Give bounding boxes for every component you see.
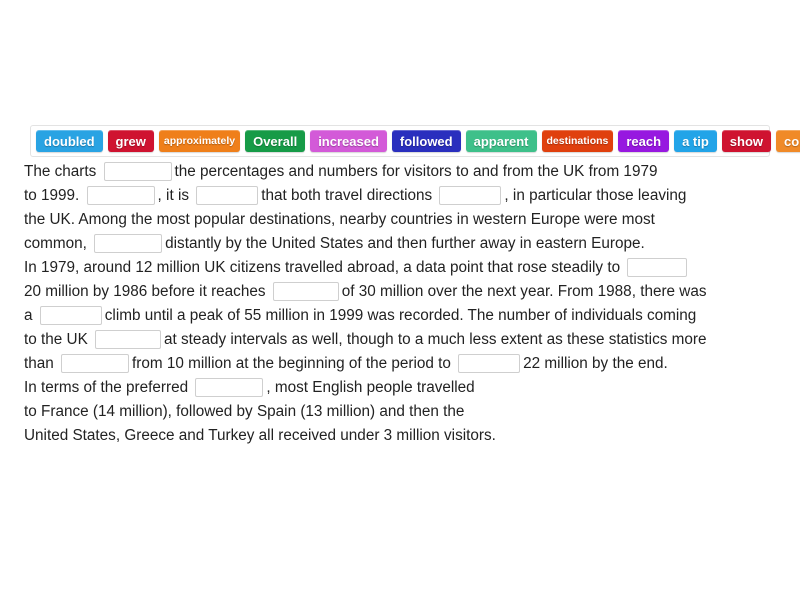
passage-text-segment: 22 million by the end. [523,355,668,372]
passage-line: to France (14 million), followed by Spai… [24,400,780,424]
passage-text-segment: The charts [24,163,96,180]
passage-line: common, distantly by the United States a… [24,232,780,256]
passage-line: 20 million by 1986 before it reaches of … [24,280,780,304]
passage-text-segment: the percentages and numbers for visitors… [175,163,658,180]
passage-line: United States, Greece and Turkey all rec… [24,424,780,448]
passage-line: In terms of the preferred , most English… [24,376,780,400]
answer-blank[interactable] [196,186,258,205]
passage-line: the UK. Among the most popular destinati… [24,208,780,232]
answer-blank[interactable] [104,162,172,181]
word-chip[interactable]: increased [310,130,387,152]
passage-text-segment: to 1999. [24,187,79,204]
passage-line: to the UK at steady intervals as well, t… [24,328,780,352]
passage-text-segment: In terms of the preferred [24,379,188,396]
passage-text-segment: to the UK [24,331,88,348]
word-chip[interactable]: reach [618,130,669,152]
passage-text-segment: a [24,307,33,324]
exercise-page: doubledgrewapproximatelyOverallincreased… [0,0,800,600]
passage-text-segment: climb until a peak of 55 million in 1999… [105,307,697,324]
passage-line: The charts the percentages and numbers f… [24,160,780,184]
answer-blank[interactable] [94,234,162,253]
word-chip[interactable]: followed [392,130,461,152]
answer-blank[interactable] [627,258,687,277]
passage-text-segment: distantly by the United States and then … [165,235,645,252]
word-chip[interactable]: doubled [36,130,103,152]
passage-text-segment: In 1979, around 12 million UK citizens t… [24,259,620,276]
passage-text-segment: than [24,355,54,372]
passage-text-segment: 20 million by 1986 before it reaches [24,283,266,300]
answer-blank[interactable] [195,378,263,397]
passage-text: The charts the percentages and numbers f… [24,160,780,448]
word-bank: doubledgrewapproximatelyOverallincreased… [30,125,770,157]
word-chip[interactable]: a tip [674,130,717,152]
passage-text-segment: from 10 million at the beginning of the … [132,355,451,372]
passage-line: a climb until a peak of 55 million in 19… [24,304,780,328]
answer-blank[interactable] [273,282,339,301]
passage-text-segment: common, [24,235,87,252]
passage-text-segment: United States, Greece and Turkey all rec… [24,427,496,444]
word-chip[interactable]: show [722,130,771,152]
passage-line: than from 10 million at the beginning of… [24,352,780,376]
word-chip[interactable]: grew [108,130,154,152]
word-chip[interactable]: approximately [159,130,240,152]
answer-blank[interactable] [458,354,520,373]
passage-text-segment: at steady intervals as well, though to a… [164,331,706,348]
answer-blank[interactable] [95,330,161,349]
passage-line: to 1999. , it is that both travel direct… [24,184,780,208]
passage-text-segment: of 30 million over the next year. From 1… [342,283,707,300]
answer-blank[interactable] [439,186,501,205]
answer-blank[interactable] [40,306,102,325]
passage-text-segment: , in particular those leaving [504,187,686,204]
word-chip[interactable]: Overall [245,130,305,152]
word-chip[interactable]: consistent [776,130,800,152]
word-chip[interactable]: apparent [466,130,537,152]
passage-text-segment: , most English people travelled [266,379,474,396]
answer-blank[interactable] [61,354,129,373]
passage-line: In 1979, around 12 million UK citizens t… [24,256,780,280]
word-chip[interactable]: destinations [542,130,614,152]
passage-text-segment: the UK. Among the most popular destinati… [24,211,655,228]
answer-blank[interactable] [87,186,155,205]
passage-text-segment: , it is [158,187,189,204]
passage-text-segment: to France (14 million), followed by Spai… [24,403,464,420]
passage-text-segment: that both travel directions [261,187,432,204]
